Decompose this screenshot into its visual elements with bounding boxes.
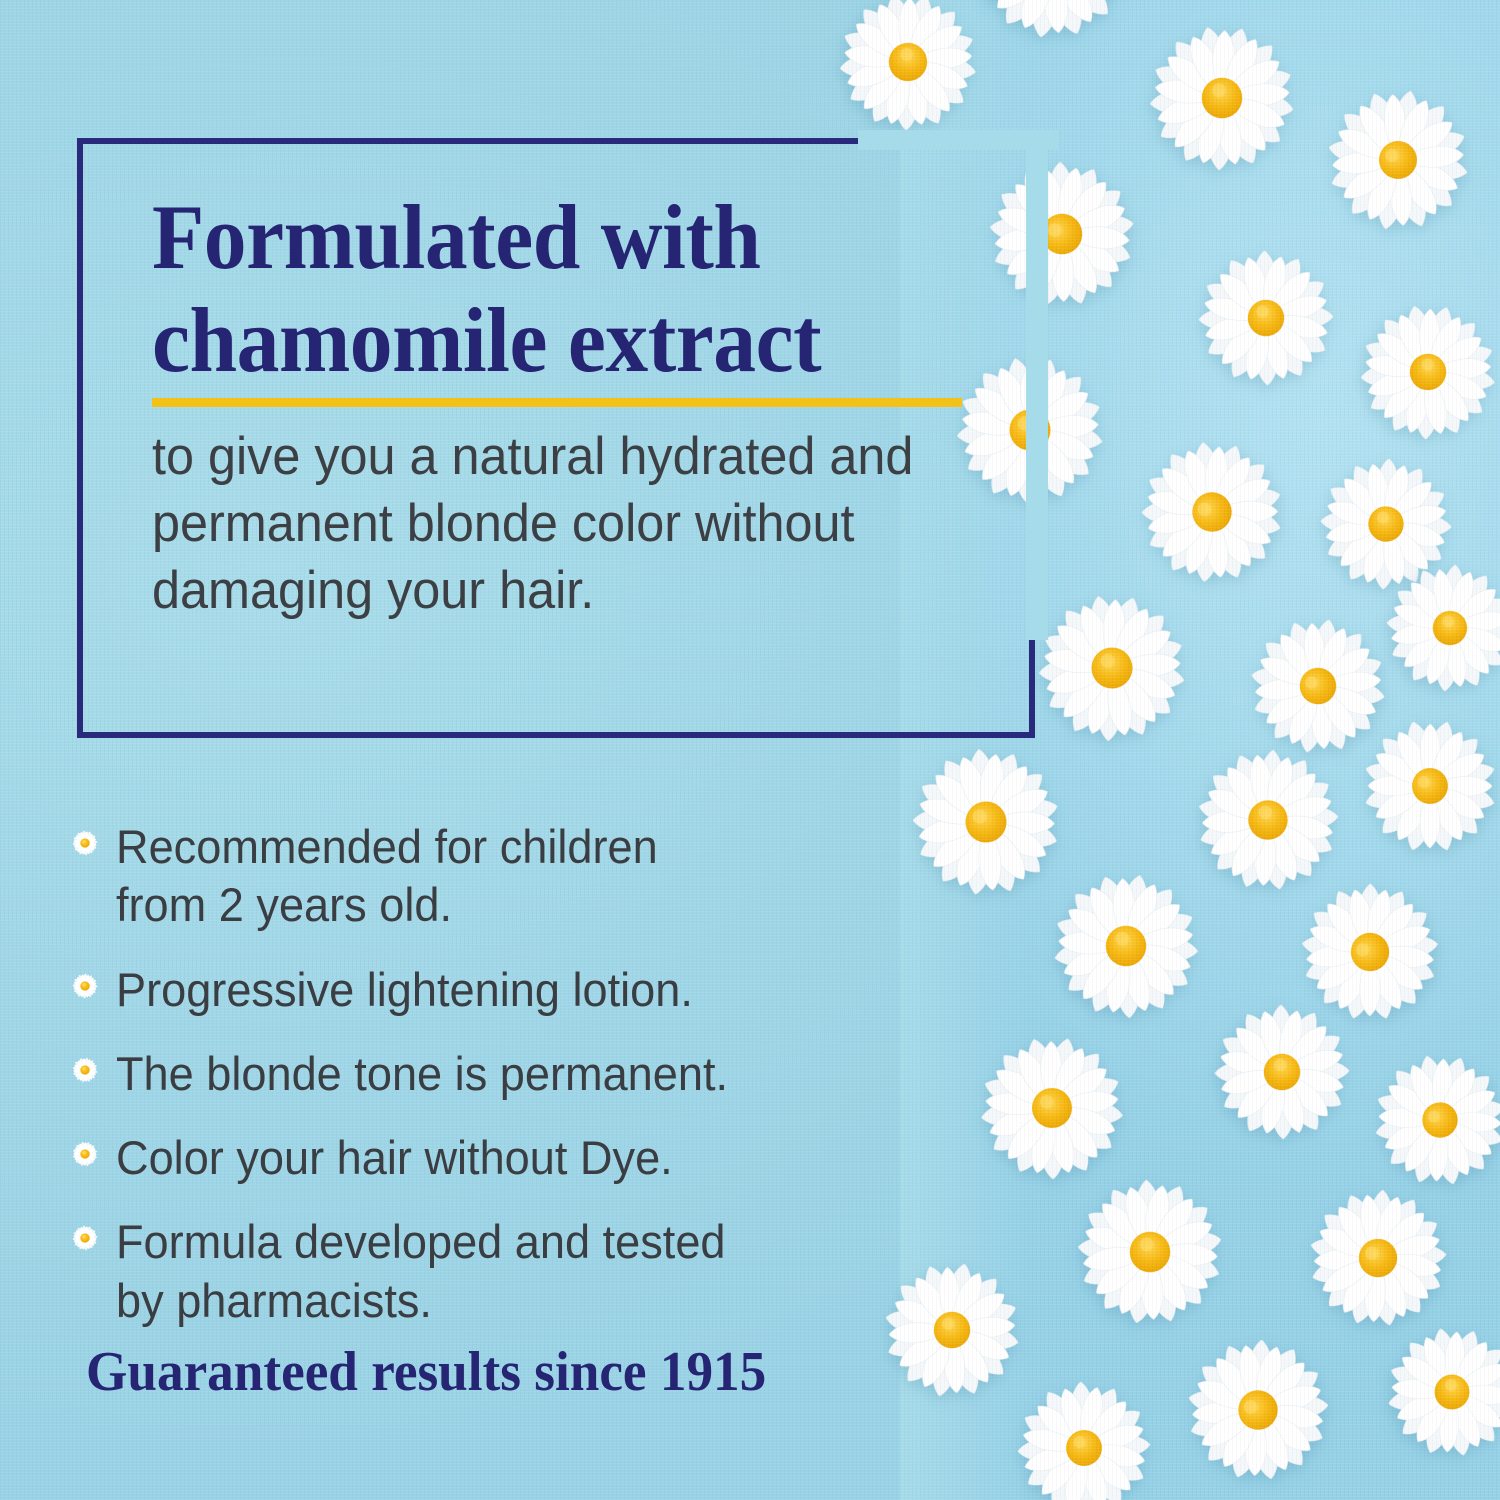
page-title: Formulated with chamomile extract	[152, 186, 970, 392]
list-item-label: Color your hair without Dye.	[116, 1129, 673, 1187]
list-item-label: Formula developed and tested by pharmaci…	[116, 1213, 726, 1330]
footer-tagline: Guaranteed results since 1915	[86, 1340, 766, 1404]
daisy-bullet-icon	[72, 1057, 98, 1083]
frame-right-gap	[1026, 130, 1048, 640]
list-item: The blonde tone is permanent.	[72, 1045, 972, 1103]
list-item-label: Recommended for children from 2 years ol…	[116, 818, 658, 935]
list-item: Formula developed and tested by pharmaci…	[72, 1213, 972, 1330]
daisy-bullet-icon	[72, 1225, 98, 1251]
list-item: Progressive lightening lotion.	[72, 961, 972, 1019]
list-item-label: The blonde tone is permanent.	[116, 1045, 728, 1103]
daisy-bullet-icon	[72, 973, 98, 999]
benefits-list: Recommended for children from 2 years ol…	[72, 818, 972, 1356]
daisy-flower-icon	[1023, 579, 1201, 757]
callout-subtitle: to give you a natural hydrated and perma…	[152, 424, 969, 624]
list-item: Color your hair without Dye.	[72, 1129, 972, 1187]
list-item: Recommended for children from 2 years ol…	[72, 818, 972, 935]
daisy-flower-icon	[1008, 1372, 1160, 1500]
daisy-bullet-icon	[72, 1141, 98, 1167]
list-item-label: Progressive lightening lotion.	[116, 961, 693, 1019]
daisy-bullet-icon	[72, 830, 98, 856]
daisy-flower-icon	[1311, 73, 1484, 246]
product-feature-banner: Formulated with chamomile extract to giv…	[0, 0, 1500, 1500]
accent-divider	[152, 398, 962, 407]
